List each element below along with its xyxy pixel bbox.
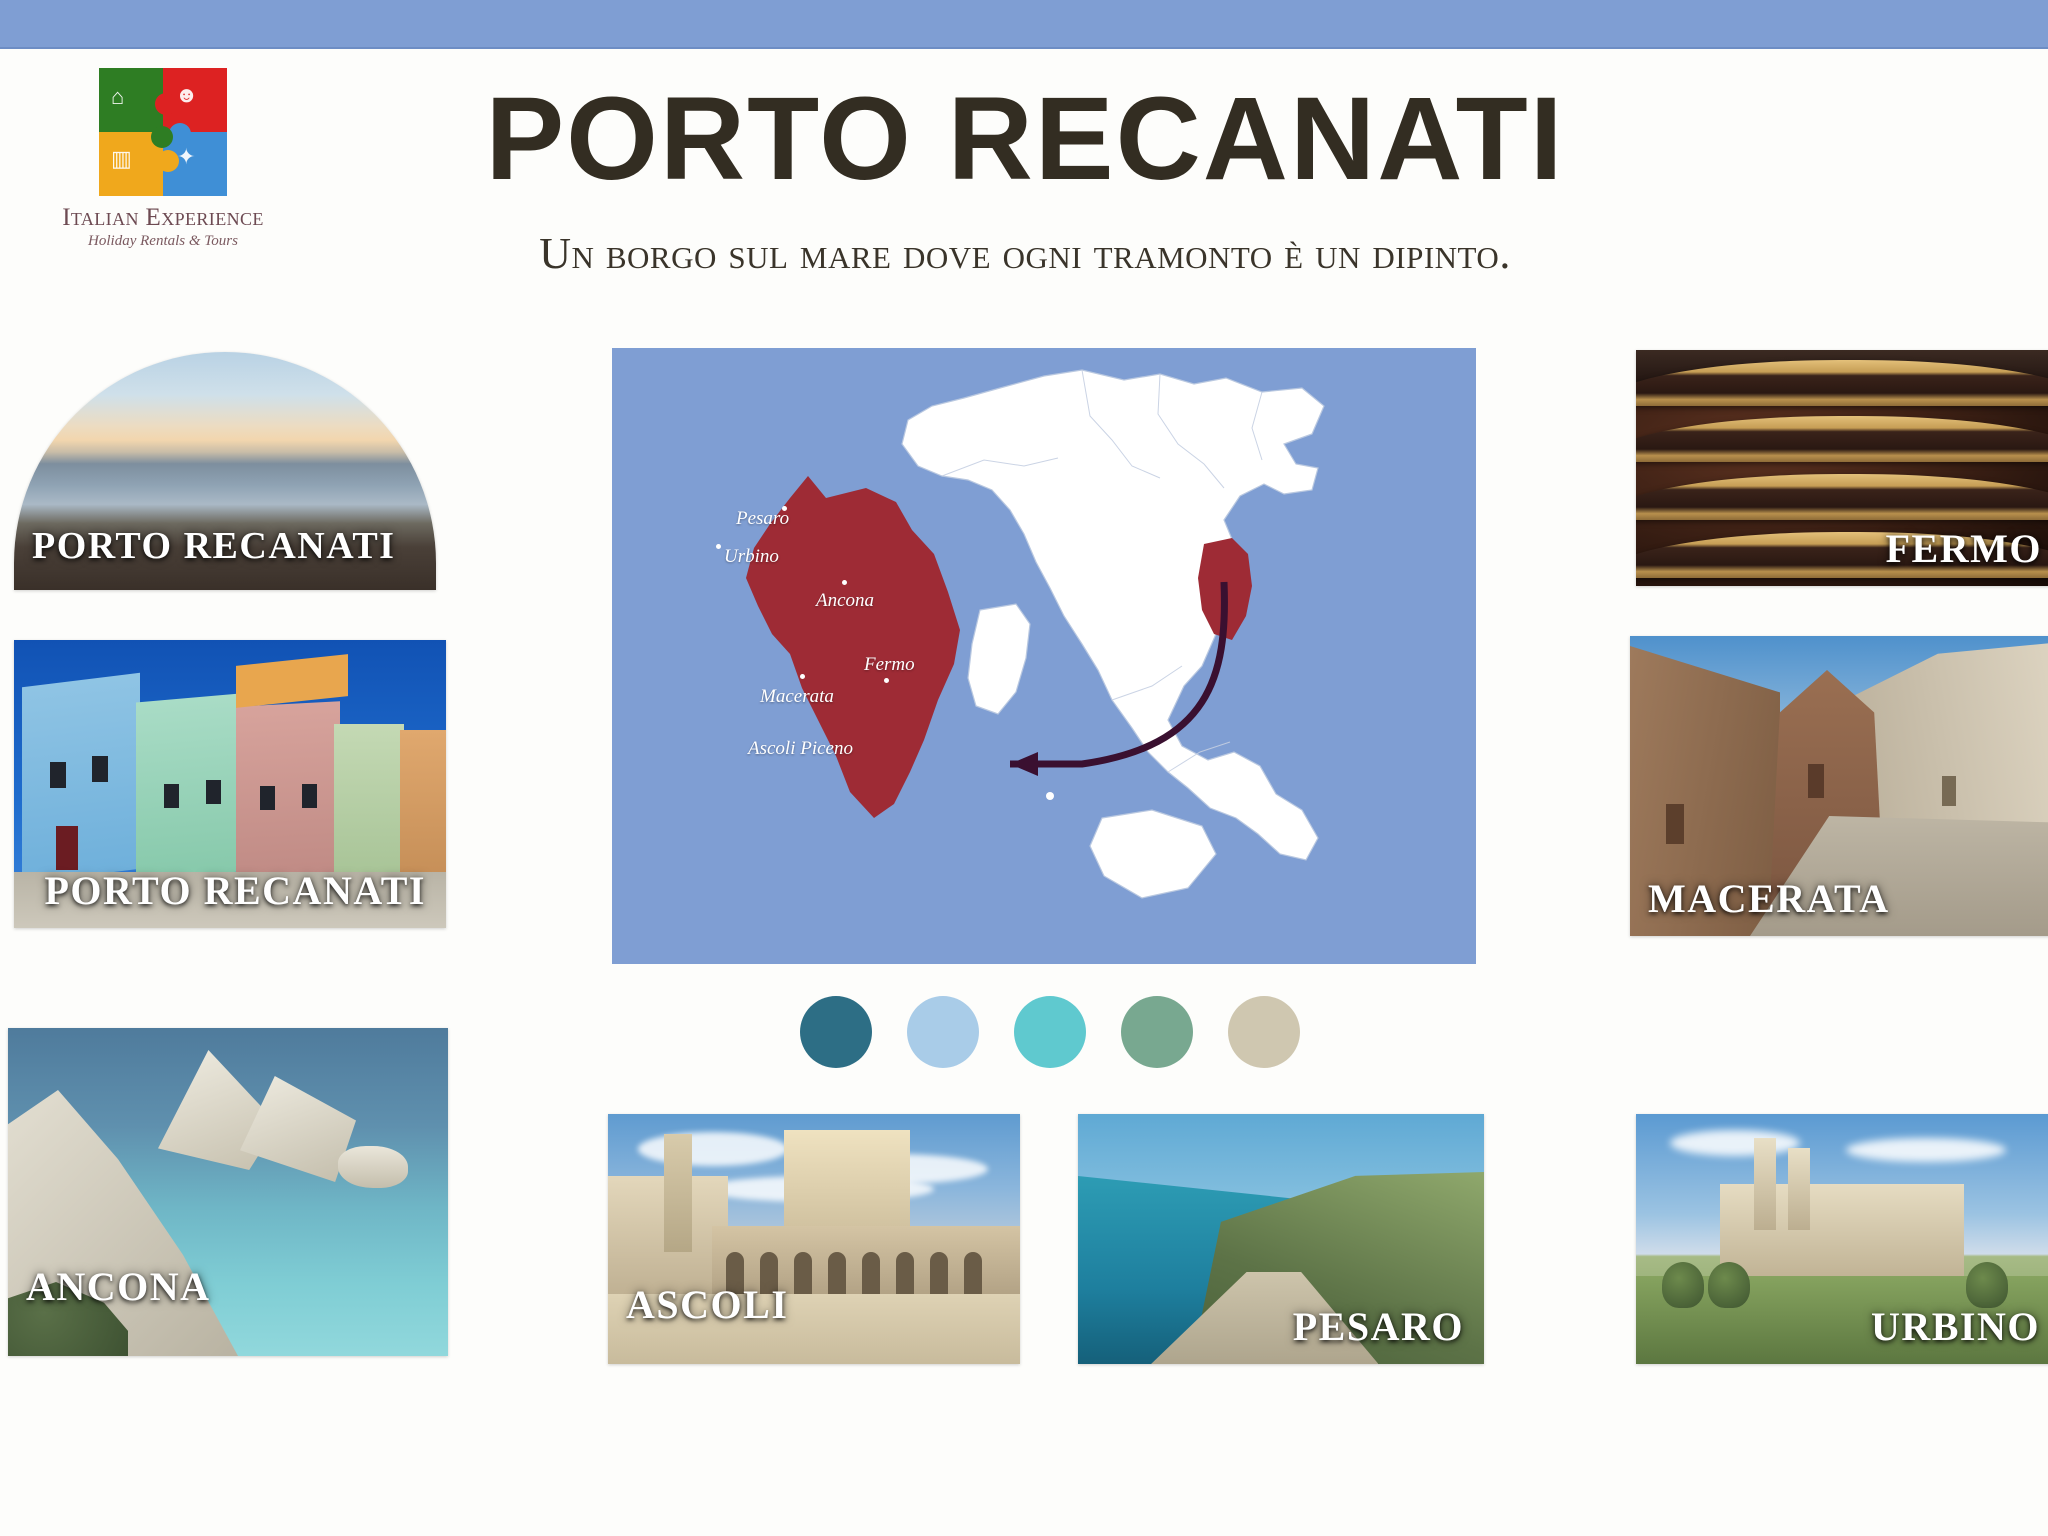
person-icon: ☻ xyxy=(175,82,198,108)
arch xyxy=(896,1252,914,1294)
city-label-pesaro: Pesaro xyxy=(736,508,789,530)
photo-caption: PESARO xyxy=(1293,1303,1464,1350)
puzzle-knob xyxy=(157,150,179,172)
tower xyxy=(1788,1148,1810,1230)
moodboard-page: ⌂ ☻ ▥ ✦ Italian Experience Holiday Renta… xyxy=(0,0,2048,1536)
arch xyxy=(794,1252,812,1294)
swatch-turquoise[interactable] xyxy=(1014,996,1086,1068)
building xyxy=(236,701,340,878)
photo-card-macerata[interactable]: MACERATA xyxy=(1630,636,2048,936)
italy-mainland xyxy=(902,370,1324,860)
tower xyxy=(1754,1138,1776,1230)
puzzle-quadrant-green xyxy=(99,68,163,132)
door xyxy=(56,826,78,870)
sardinia xyxy=(968,604,1030,714)
photo-card-ancona[interactable]: ANCONA xyxy=(8,1028,448,1356)
logo-name: Italian Experience xyxy=(48,204,278,232)
page-subtitle: Un borgo sul mare dove ogni tramonto è u… xyxy=(330,228,1720,279)
tree xyxy=(1708,1262,1750,1308)
window xyxy=(1808,764,1824,798)
swatch-deep-teal[interactable] xyxy=(800,996,872,1068)
city-label-ascoli-piceno: Ascoli Piceno xyxy=(748,738,853,760)
house-icon: ⌂ xyxy=(111,84,124,110)
photo-card-pesaro[interactable]: PESARO xyxy=(1078,1114,1484,1364)
cloud xyxy=(638,1132,788,1166)
arch xyxy=(930,1252,948,1294)
swatch-beige[interactable] xyxy=(1228,996,1300,1068)
photo-caption: MACERATA xyxy=(1648,875,1890,922)
city-label-fermo: Fermo xyxy=(864,654,915,676)
city-dot xyxy=(716,544,721,549)
photo-caption: FERMO xyxy=(1886,525,2042,572)
window xyxy=(164,784,179,808)
building xyxy=(334,724,404,876)
photo-card-porto-recanati-houses[interactable]: PORTO RECANATI xyxy=(14,640,446,928)
photo-caption: URBINO xyxy=(1871,1303,2040,1350)
temple-icon: ▥ xyxy=(111,146,132,172)
bell-tower xyxy=(664,1134,692,1252)
star-icon: ✦ xyxy=(177,144,195,170)
cliff xyxy=(338,1146,408,1188)
building xyxy=(400,730,446,876)
logo-tagline: Holiday Rentals & Tours xyxy=(48,233,278,250)
puzzle-logo-icon: ⌂ ☻ ▥ ✦ xyxy=(99,68,227,196)
italy-map-panel[interactable]: Pesaro Urbino Ancona Fermo Macerata Asco… xyxy=(612,348,1476,964)
puzzle-knob xyxy=(151,126,173,148)
city-label-macerata: Macerata xyxy=(760,686,834,708)
arch xyxy=(964,1252,982,1294)
window xyxy=(260,786,275,810)
photo-caption: ASCOLI xyxy=(626,1281,788,1328)
building xyxy=(22,673,140,883)
photo-caption: PORTO RECANATI xyxy=(32,524,395,568)
cloud xyxy=(1846,1138,2006,1162)
page-title: PORTO RECANATI xyxy=(330,80,1720,198)
photo-caption: ANCONA xyxy=(26,1263,211,1310)
window xyxy=(302,784,317,808)
small-island xyxy=(1046,792,1054,800)
window xyxy=(206,780,221,804)
color-palette xyxy=(800,990,1300,1074)
arch xyxy=(828,1252,846,1294)
puzzle-knob xyxy=(155,93,177,115)
photo-card-fermo[interactable]: FERMO xyxy=(1636,350,2048,586)
photo-card-ascoli[interactable]: ASCOLI xyxy=(608,1114,1020,1364)
window xyxy=(50,762,66,788)
city-dot xyxy=(800,674,805,679)
photo-caption: PORTO RECANATI xyxy=(45,867,427,914)
swatch-sage-green[interactable] xyxy=(1121,996,1193,1068)
arch xyxy=(862,1252,880,1294)
building xyxy=(136,693,240,880)
window xyxy=(92,756,108,782)
top-accent-bar xyxy=(0,0,2048,49)
tree xyxy=(1966,1262,2008,1308)
swatch-light-blue[interactable] xyxy=(907,996,979,1068)
city-dot xyxy=(884,678,889,683)
brand-logo[interactable]: ⌂ ☻ ▥ ✦ Italian Experience Holiday Renta… xyxy=(48,68,278,250)
window xyxy=(1942,776,1956,806)
city-dot xyxy=(842,580,847,585)
sicily xyxy=(1090,810,1216,898)
cloud xyxy=(1670,1130,1800,1156)
window xyxy=(1666,804,1684,844)
city-label-ancona: Ancona xyxy=(816,590,874,612)
photo-card-urbino[interactable]: URBINO xyxy=(1636,1114,2048,1364)
photo-card-porto-recanati-sunset[interactable]: PORTO RECANATI xyxy=(14,352,436,590)
small-island xyxy=(1105,565,1115,575)
tree xyxy=(1662,1262,1704,1308)
arrow-head xyxy=(1010,752,1038,776)
city-label-urbino: Urbino xyxy=(724,546,779,568)
italy-map-svg xyxy=(612,348,1476,964)
